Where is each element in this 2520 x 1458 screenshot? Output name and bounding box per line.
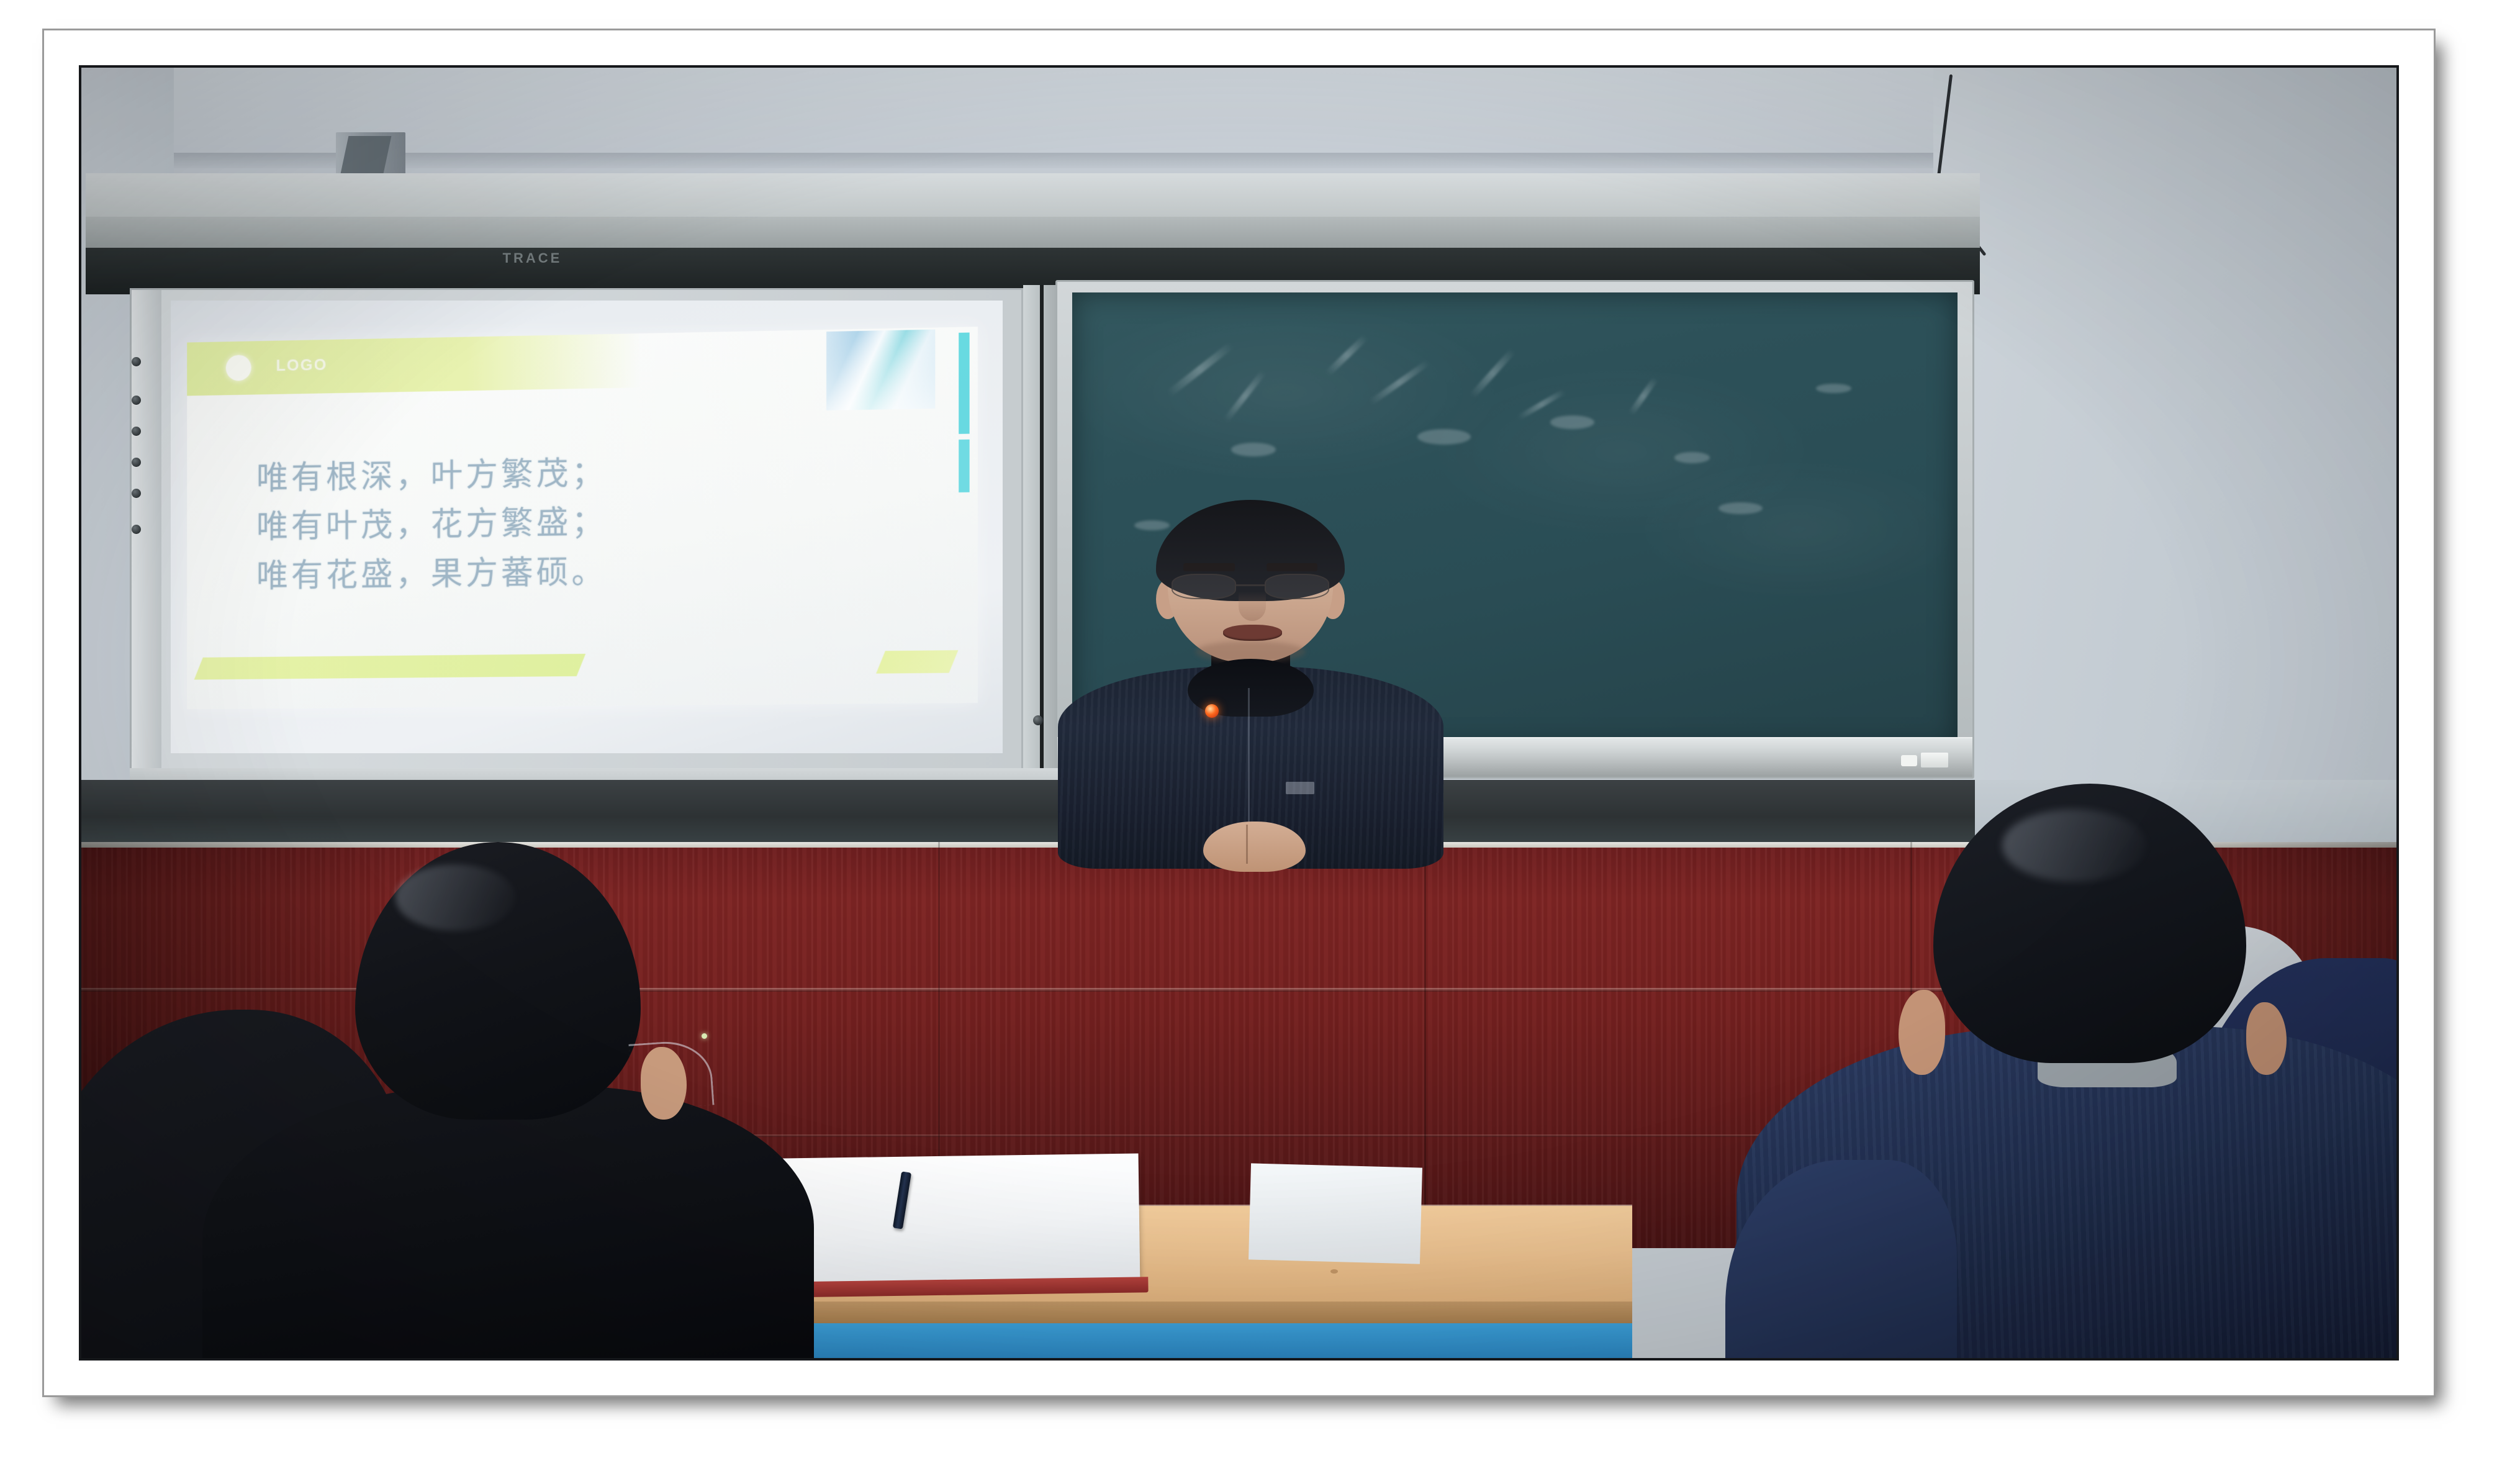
projection-surface: LOGO 唯有根深，叶方繁茂； 唯有叶茂，花方繁盛； 唯有花盛，果方蕃硕。: [171, 301, 1003, 754]
slide-line-1: 唯有根深，叶方繁茂；: [257, 444, 905, 503]
projection-screen-frame: LOGO 唯有根深，叶方繁茂； 唯有叶茂，花方繁盛； 唯有花盛，果方蕃硕。: [130, 288, 1024, 771]
chalk-smudge: [1223, 369, 1267, 422]
chalk-smudge: [1674, 452, 1710, 463]
jacket-zipper: [1248, 688, 1250, 825]
wall-right: [1933, 68, 2396, 894]
jacket-logo-patch: [1286, 782, 1314, 794]
slide-logo-label: LOGO: [276, 355, 328, 375]
lapel-pin-icon: [1205, 704, 1219, 718]
classroom-scene: TRACE: [81, 68, 2396, 1358]
lens-right: [1265, 574, 1329, 599]
photo-plate: TRACE: [79, 65, 2399, 1361]
slide-body-text: 唯有根深，叶方繁茂； 唯有叶茂，花方繁盛； 唯有花盛，果方蕃硕。: [257, 444, 905, 600]
rail-top-lower: [86, 217, 1979, 248]
presenter-mouth: [1223, 625, 1282, 641]
screw-icon: [132, 525, 141, 534]
board-eraser-icon: [1921, 753, 1948, 767]
chalk-smudge: [1417, 429, 1471, 445]
slide-line-3: 唯有花盛，果方蕃硕。: [257, 543, 905, 600]
paper-sheet-secondary: [1249, 1163, 1422, 1264]
attendee-left: [243, 842, 752, 1358]
lens-left: [1172, 574, 1236, 599]
photo-frame: TRACE: [42, 29, 2436, 1397]
chalk-smudge: [1517, 389, 1565, 420]
screw-icon: [132, 396, 141, 405]
chalk-smudge: [1325, 335, 1368, 376]
presenter-clasped-hands: [1203, 822, 1306, 872]
rail-top-upper: [86, 173, 1979, 217]
projected-slide: LOGO 唯有根深，叶方繁茂； 唯有叶茂，花方繁盛； 唯有花盛，果方蕃硕。: [187, 327, 978, 709]
chalk-smudge: [1628, 376, 1658, 416]
chalk-smudge: [1369, 360, 1430, 405]
slide-thumbnail-image: [827, 329, 936, 410]
attendee-left-head: [355, 842, 640, 1120]
presenter-brow-right: [1267, 563, 1317, 571]
presenter-brow-left: [1183, 563, 1234, 571]
chalk-smudge: [1816, 384, 1851, 393]
eyeglasses-glint: [702, 1033, 707, 1039]
screw-icon: [132, 357, 141, 366]
podium-vertical-seam: [1424, 842, 1426, 1249]
slide-accent-stripe: [959, 332, 970, 434]
screw-icon: [132, 489, 141, 498]
screw-icon: [132, 458, 141, 467]
attendee-right-ear-left: [1899, 990, 1945, 1075]
slide-accent-stripe-2: [959, 440, 970, 492]
attendee-right: [1806, 784, 2385, 1358]
chalk-smudge: [1718, 502, 1763, 514]
slide-bottom-band-2: [876, 650, 958, 674]
chalk-stick-icon: [1901, 755, 1917, 766]
chalk-smudge: [1167, 342, 1234, 396]
attendee-right-head: [1933, 784, 2246, 1062]
slide-logo-icon: [226, 354, 251, 380]
glasses-bridge: [1236, 584, 1265, 586]
attendee-left-coat: [202, 1086, 813, 1358]
slide-bottom-band: [194, 654, 586, 680]
screw-icon: [132, 427, 141, 436]
chalk-smudge: [1470, 348, 1516, 399]
chalk-smudge: [1231, 443, 1275, 456]
slide-line-2: 唯有叶茂，花方繁盛；: [257, 494, 905, 552]
board-assembly: TRACE: [86, 173, 1979, 792]
attendee-right-ear-right: [2246, 1002, 2287, 1075]
wood-knot: [1330, 1269, 1338, 1274]
rail-brand-label: TRACE: [503, 250, 562, 266]
chalk-smudge: [1550, 415, 1594, 429]
slide-top-band: [187, 333, 641, 396]
eyeglasses-icon: [628, 1039, 714, 1111]
photo-mat: TRACE: [60, 47, 2418, 1379]
screen-left-rail: [132, 290, 162, 769]
presenter: [1054, 500, 1447, 861]
divider-seam: [1040, 285, 1044, 774]
